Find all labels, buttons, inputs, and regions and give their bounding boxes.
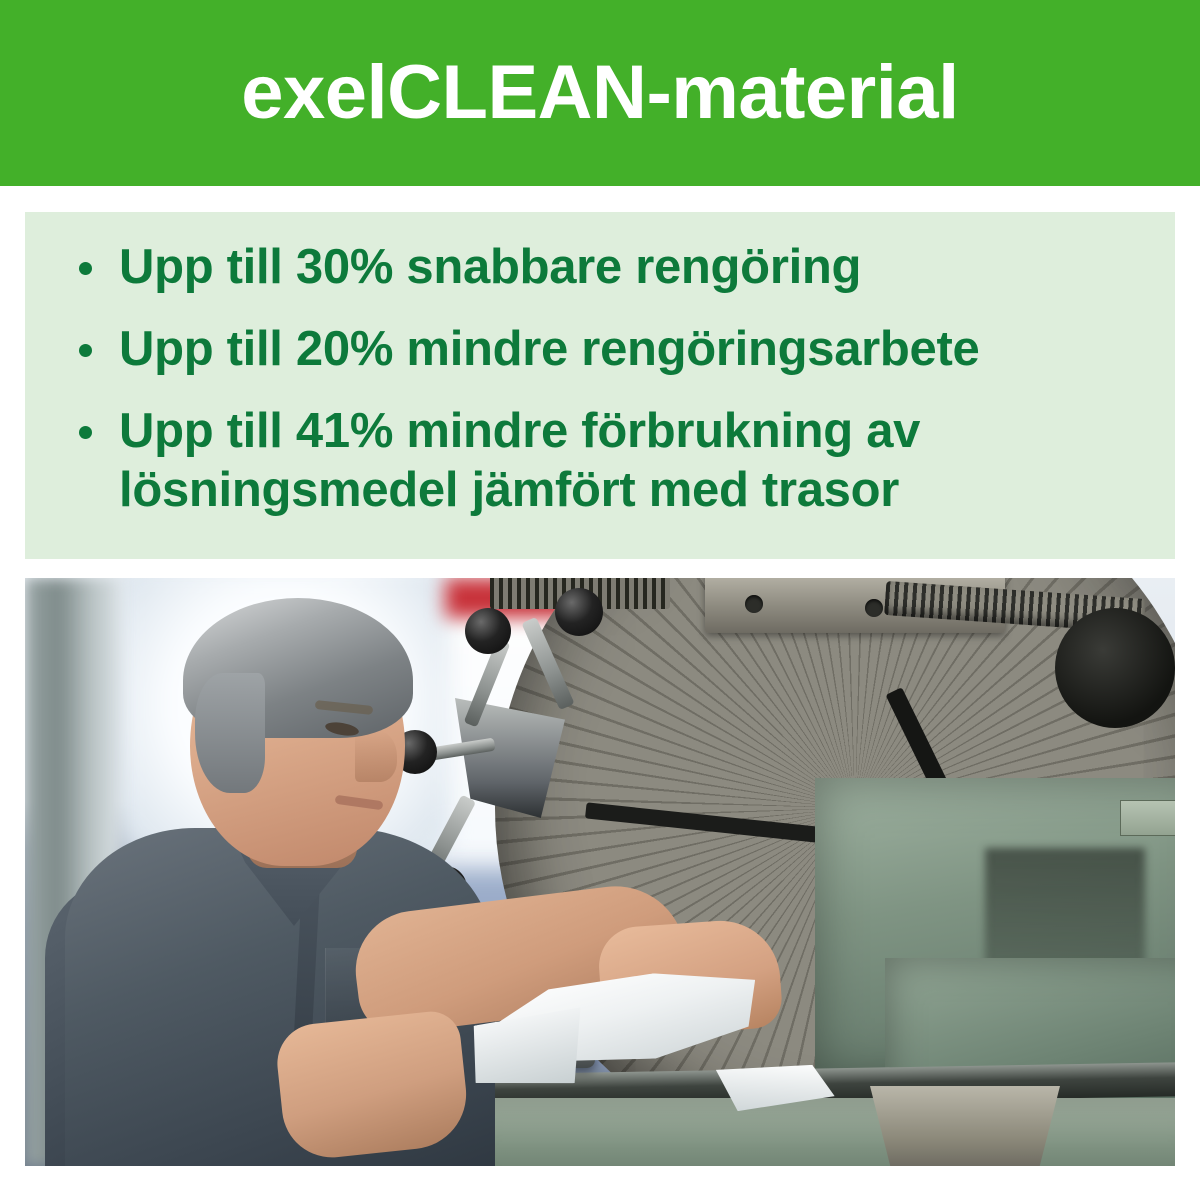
- benefit-text: Upp till 30% snabbare rengöring: [119, 240, 861, 294]
- list-item: Upp till 41% mindre förbrukning av lösni…: [67, 402, 1145, 522]
- product-photo: [25, 578, 1175, 1166]
- benefits-list: Upp till 30% snabbare rengöring Upp till…: [67, 238, 1145, 521]
- header-banner: exelCLEAN-material: [0, 0, 1200, 186]
- worker-holding-hand: [273, 1009, 471, 1163]
- worker-sideburn: [195, 673, 265, 793]
- bullet-dot-icon: [79, 262, 92, 275]
- machine-nameplate: [1120, 800, 1175, 836]
- bullet-dot-icon: [79, 344, 92, 357]
- bullet-dot-icon: [79, 426, 92, 439]
- jaw-bolt-hole: [865, 599, 883, 617]
- list-item: Upp till 30% snabbare rengöring: [67, 238, 1145, 298]
- promo-page: exelCLEAN-material Upp till 30% snabbare…: [0, 0, 1200, 1200]
- machine-bracket: [870, 1086, 1060, 1166]
- list-item: Upp till 20% mindre rengöringsarbete: [67, 320, 1145, 380]
- page-title: exelCLEAN-material: [0, 0, 1200, 186]
- jaw-bolt-hole: [745, 595, 763, 613]
- ball-handle-icon: [465, 608, 511, 654]
- machine-bore: [1055, 608, 1175, 728]
- benefit-text: Upp till 41% mindre förbrukning av lösni…: [119, 404, 920, 518]
- worker-nose: [355, 730, 397, 782]
- benefits-panel: Upp till 30% snabbare rengöring Upp till…: [25, 212, 1175, 559]
- machine-bed: [455, 1098, 1175, 1166]
- ball-handle-icon: [555, 588, 603, 636]
- benefit-text: Upp till 20% mindre rengöringsarbete: [119, 322, 979, 376]
- photo-scene: [25, 578, 1175, 1166]
